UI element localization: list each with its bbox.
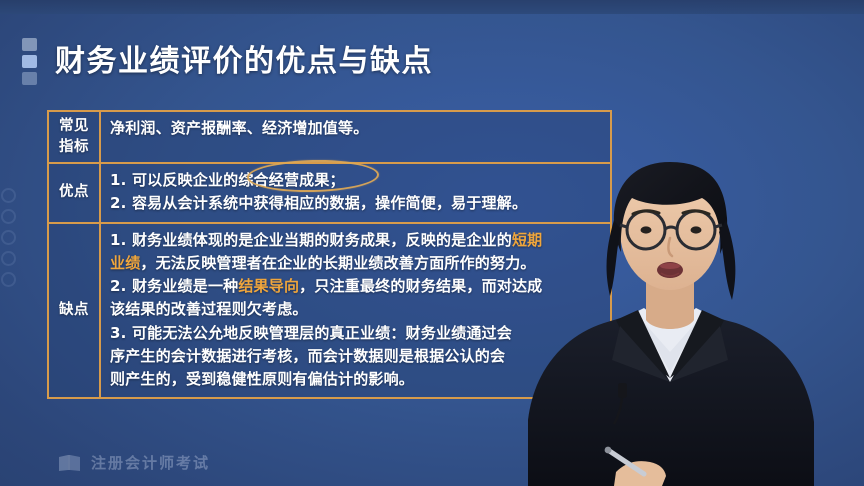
content-text: ，只注重最终的财务结果，而对达成 [299, 277, 542, 295]
table-row-label-line: 指标 [59, 139, 89, 155]
edge-mark-icon [1, 251, 16, 266]
content-text: 净利润、资产报酬率、经济增加值等。 [110, 119, 368, 137]
watermark: 注册会计师考试 [58, 452, 210, 473]
title-bar: 财务业绩评价的优点与缺点 [0, 16, 864, 72]
edge-mark-icon [1, 230, 16, 245]
edge-mark-icon [1, 188, 16, 203]
content-highlight: 结果导向 [238, 277, 299, 295]
content-text: 序产生的会计数据进行考核，而会计数据则是根据公认的会 [110, 347, 505, 365]
top-gradient-band [0, 0, 864, 14]
slide-canvas: 财务业绩评价的优点与缺点 常见 指标 净利润、资产报酬率、经济增加值等。 优点 … [0, 0, 864, 486]
content-text: ，无法反映管理者在企业的长期业绩改善方面所作的努力。 [140, 254, 535, 272]
content-text: 3. 可能无法公允地反映管理层的真正业绩：财务业绩通过会 [110, 324, 512, 342]
edge-mark-icon [1, 209, 16, 224]
edge-mark-icon [1, 272, 16, 287]
content-text: 2. 容易从会计系统中获得相应的数据，操作简便，易于理解。 [110, 194, 527, 212]
table-row-label: 常见 指标 [49, 112, 101, 162]
title-marker-square-3 [22, 72, 37, 85]
content-text: 则产生的，受到稳健性原则有偏估计的影响。 [110, 370, 414, 388]
content-text: 该结果的改善过程则欠考虑。 [110, 300, 308, 318]
watermark-text: 注册会计师考试 [91, 452, 210, 473]
presenter-figure [520, 120, 864, 486]
content-text: 2. 财务业绩是一种 [110, 277, 238, 295]
title-marker-square-2 [22, 55, 37, 68]
title-marker-square-1 [22, 38, 37, 51]
book-icon [58, 454, 82, 472]
page-title: 财务业绩评价的优点与缺点 [55, 36, 433, 80]
content-text: 1. 可以反映企业的综合经营成果； [110, 171, 345, 189]
title-marker-group [22, 38, 37, 86]
left-edge-marks [1, 188, 15, 292]
content-highlight: 业绩 [110, 254, 140, 272]
content-text: 1. 财务业绩体现的是企业当期的财务成果，反映的是企业的 [110, 231, 512, 249]
table-row-label: 缺点 [49, 224, 101, 398]
table-row-label: 优点 [49, 164, 101, 222]
table-row-label-line: 常见 [59, 118, 89, 134]
